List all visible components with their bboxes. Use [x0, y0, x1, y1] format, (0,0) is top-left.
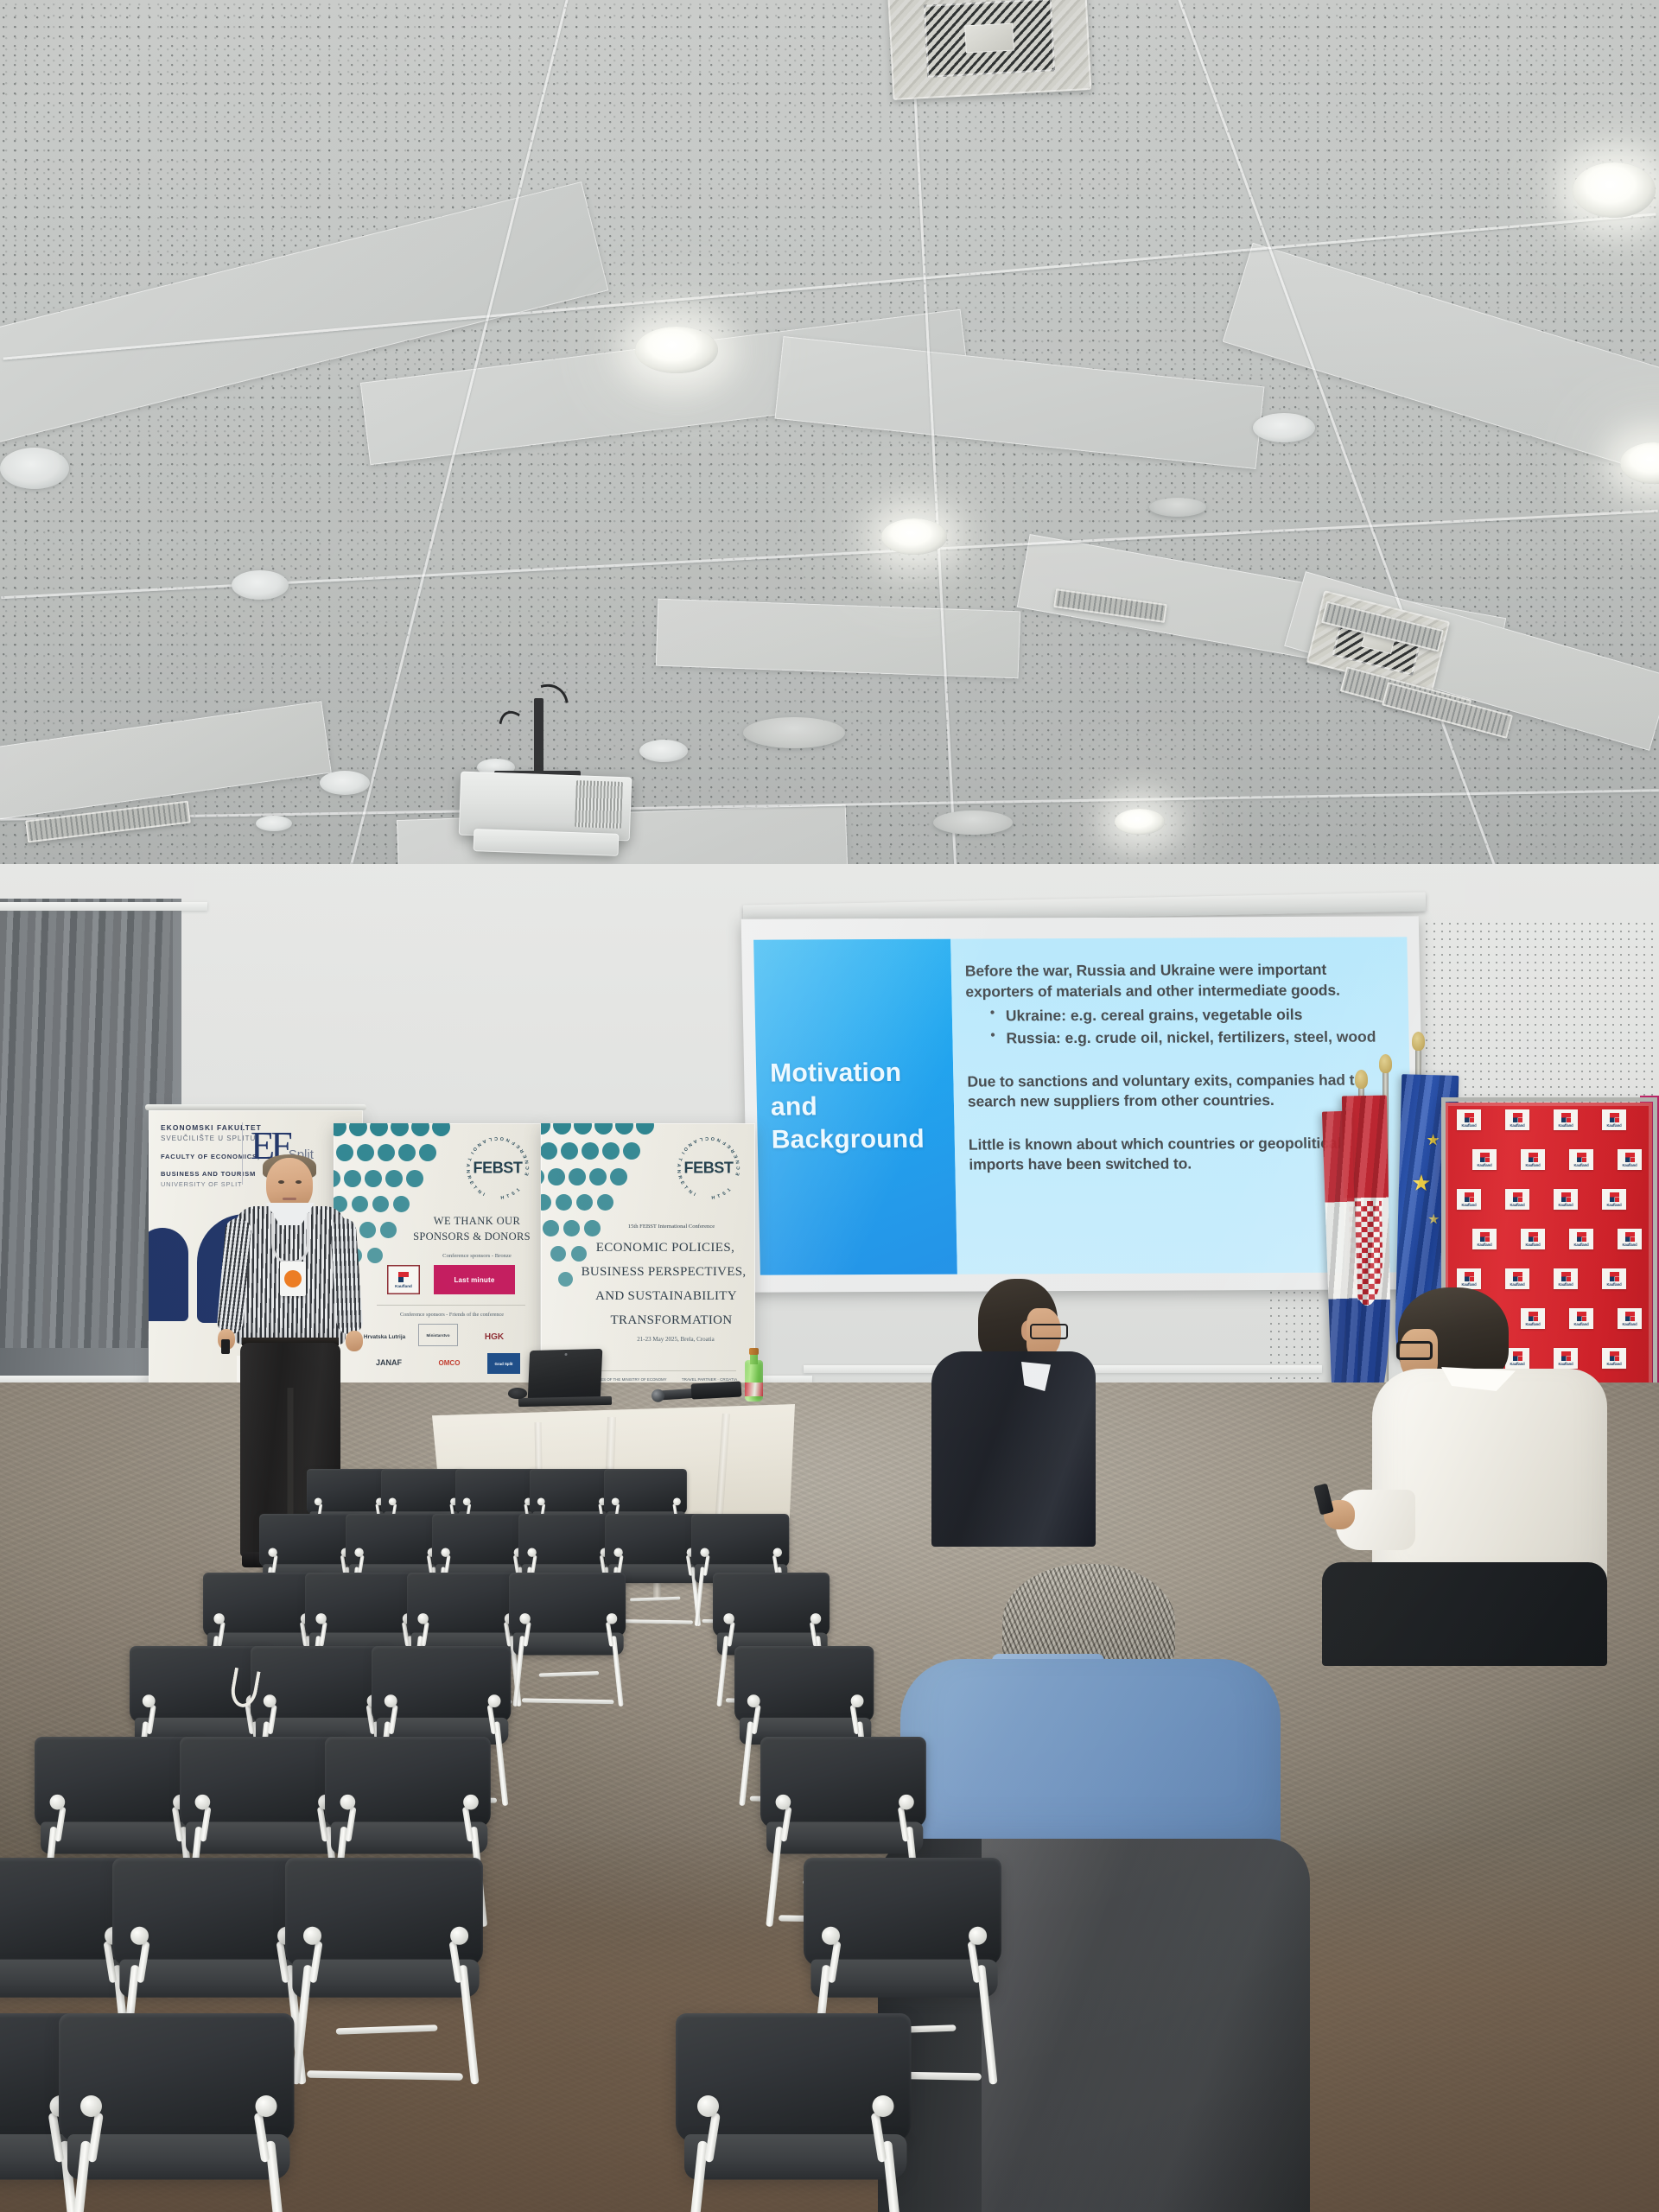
slide-bullet: Russia: e.g. crude oil, nickel, fertiliz… — [988, 1027, 1392, 1049]
decorative-dot — [623, 1142, 640, 1160]
conference-kicker: 15th FEBST International Conference — [593, 1224, 750, 1230]
decorative-dot — [378, 1144, 395, 1161]
seal-ring-character: I — [469, 1151, 474, 1154]
conference-title-line-4: TRANSFORMATION — [593, 1313, 750, 1328]
chair-back-knob — [537, 1497, 545, 1505]
bottle-neck — [750, 1354, 758, 1364]
kaufland-wordmark: Kaufland — [1606, 1203, 1621, 1207]
kaufland-wordmark: Kaufland — [1606, 1282, 1621, 1287]
sponsor-name: Last minute — [454, 1276, 494, 1284]
chair-back-knob — [613, 1548, 622, 1557]
kaufland-mark-icon — [1480, 1153, 1490, 1162]
chair-back-knob — [441, 1548, 449, 1557]
decorative-dot — [558, 1272, 573, 1287]
decorative-dot — [385, 1170, 403, 1187]
presenter-mouth — [283, 1198, 296, 1200]
ceiling-downlight — [0, 448, 69, 489]
ceiling-speaker — [933, 810, 1013, 835]
chair-back-knob — [303, 1927, 321, 1945]
chair-back-knob — [213, 1613, 224, 1624]
ceiling-downlight — [639, 740, 688, 762]
chair-back-knob — [822, 1927, 840, 1945]
seal-ring-character: O — [472, 1146, 478, 1152]
chair-back-behind-white-shirt — [1322, 1562, 1607, 1666]
chair-back-knob — [723, 1613, 734, 1624]
decorative-dot — [594, 1123, 613, 1135]
chair-back-knob — [851, 1694, 864, 1707]
decorative-dot — [349, 1123, 367, 1136]
decorative-dot — [563, 1220, 580, 1236]
chair-back-knob — [80, 2095, 102, 2117]
decorative-dot — [432, 1123, 450, 1136]
conference-title-line-1: ECONOMIC POLICIES, — [581, 1241, 750, 1255]
seal-ring-character: E — [727, 1143, 733, 1149]
chair-back-knob — [385, 1694, 397, 1707]
slide-bullet: Ukraine: e.g. cereal grains, vegetable o… — [988, 1004, 1392, 1027]
kaufland-logo-tile: Kaufland — [1457, 1268, 1481, 1289]
chair-seat — [119, 1960, 306, 1998]
sponsor-logo-kaufland: Kaufland — [387, 1265, 420, 1294]
seal-ring-character: 5 — [722, 1192, 728, 1198]
kaufland-logo-tile: Kaufland — [1569, 1229, 1593, 1249]
chair-seat — [186, 1822, 342, 1854]
seal-ring-character: N — [505, 1137, 511, 1143]
kaufland-mark-icon — [398, 1272, 409, 1282]
chair-back-knob — [527, 1548, 536, 1557]
seal-ring-character: E — [468, 1180, 474, 1185]
kaufland-mark-icon — [1513, 1113, 1522, 1122]
decorative-dot — [391, 1123, 409, 1136]
cable-bundle — [691, 1381, 742, 1399]
kaufland-wordmark: Kaufland — [1461, 1203, 1476, 1207]
seal-ring-character: L — [699, 1136, 702, 1142]
kaufland-wordmark: Kaufland — [1510, 1282, 1524, 1287]
water-bottle — [745, 1348, 763, 1402]
seal-ring-character: H — [500, 1195, 504, 1200]
seal-ring-character: I — [482, 1192, 486, 1198]
decorative-dot — [636, 1123, 654, 1135]
seal-ring-character: E — [735, 1173, 741, 1177]
seal-ring-character: T — [717, 1194, 721, 1200]
computer-mouse[interactable] — [508, 1388, 527, 1399]
slide-bullet-list: Ukraine: e.g. cereal grains, vegetable o… — [988, 1004, 1392, 1049]
sponsor-logo: Grad Split — [487, 1353, 520, 1374]
chair-back-knob — [389, 1497, 397, 1505]
kaufland-logo-tile: Kaufland — [1472, 1149, 1497, 1170]
eyeglasses — [1030, 1324, 1068, 1339]
decorative-dot — [365, 1170, 382, 1187]
febst-seal-word: FEBST — [683, 1160, 733, 1178]
decorative-dot — [556, 1194, 572, 1211]
seal-ring-character: C — [494, 1135, 498, 1141]
chair-back-knob — [673, 1497, 681, 1505]
chair-back-knob — [776, 1795, 791, 1810]
febst-seal: CONFERENCE 15TH INTERNATIONAL FEBST — [677, 1137, 740, 1199]
ceiling-downlight — [320, 771, 370, 795]
presenter-eyes — [266, 1180, 313, 1184]
presentation-clicker[interactable] — [221, 1339, 230, 1354]
seal-ring-character: E — [516, 1143, 522, 1149]
ceiling-panel — [656, 599, 1020, 679]
sponsor-logo-last-minute: Last minute — [434, 1265, 515, 1294]
decorative-dot — [406, 1170, 423, 1187]
sponsor-logo: Hrvatska Lutrija — [358, 1329, 411, 1344]
kaufland-mark-icon — [1513, 1192, 1522, 1202]
kaufland-logo-tile: Kaufland — [1457, 1189, 1481, 1210]
sponsors-heading-2: SPONSORS & DONORS — [406, 1230, 537, 1243]
section-divider — [377, 1305, 525, 1306]
wall-acoustic-panel — [1426, 923, 1657, 1113]
kaufland-mark-icon — [1577, 1232, 1586, 1242]
decorative-dot — [541, 1123, 550, 1135]
kaufland-wordmark: Kaufland — [1477, 1163, 1491, 1167]
ceiling-downlight — [1115, 809, 1165, 835]
seal-ring-character: 5 — [512, 1192, 517, 1198]
ceiling-downlight — [635, 327, 718, 373]
sponsor-logo: JANAF — [365, 1355, 413, 1370]
ceiling-downlight — [256, 816, 292, 831]
kaufland-wordmark: Kaufland — [1461, 1123, 1476, 1128]
kaufland-logo-tile: Kaufland — [1554, 1268, 1578, 1289]
seal-ring-character: C — [705, 1135, 709, 1141]
kaufland-logo-tile: Kaufland — [1554, 1109, 1578, 1130]
seal-ring-character: T — [506, 1194, 511, 1200]
ceiling-downlight — [1573, 162, 1656, 218]
kaufland-logo-tile: Kaufland — [1618, 1149, 1642, 1170]
presenter-right-hand — [346, 1331, 363, 1351]
decorative-dot — [541, 1168, 544, 1185]
decorative-dot — [610, 1168, 627, 1185]
seal-ring-character: N — [465, 1170, 470, 1173]
sponsor-name: Kaufland — [395, 1284, 412, 1288]
chair-back-knob — [810, 1613, 821, 1624]
seal-ring-character: R — [677, 1175, 683, 1179]
badge-dot-icon — [284, 1270, 302, 1287]
sponsors-tier-1-label: Conference sponsors - Bronze — [416, 1253, 537, 1259]
conference-room-photo: Motivation and Background Before the war… — [0, 0, 1659, 2212]
kaufland-logo-tile: Kaufland — [1505, 1189, 1529, 1210]
seal-ring-character: I — [680, 1151, 685, 1154]
decorative-dot — [372, 1196, 389, 1212]
ceiling — [0, 0, 1659, 976]
seal-ring-character: R — [730, 1148, 736, 1154]
seal-ring-character: N — [687, 1141, 693, 1147]
chair-back-knob — [417, 1613, 428, 1624]
seal-ring-character: C — [525, 1166, 531, 1170]
chair-back-knob — [747, 1694, 760, 1707]
chair-seat — [41, 1822, 197, 1854]
kaufland-wordmark: Kaufland — [1510, 1203, 1524, 1207]
decorative-dot — [550, 1246, 566, 1262]
kaufland-wordmark: Kaufland — [1477, 1243, 1491, 1247]
seal-ring-character: N — [524, 1160, 531, 1164]
kaufland-mark-icon — [1625, 1153, 1635, 1162]
kaufland-logo-tile: Kaufland — [1521, 1149, 1545, 1170]
chair-back-knob — [450, 1927, 468, 1945]
chair-back-knob — [873, 2095, 894, 2117]
decorative-dot — [543, 1220, 559, 1236]
seal-ring-character: A — [676, 1163, 682, 1167]
kaufland-mark-icon — [1513, 1272, 1522, 1281]
seal-ring-character: E — [679, 1180, 685, 1185]
chair-back-knob — [899, 1795, 914, 1810]
kaufland-mark-icon — [1610, 1113, 1619, 1122]
presentation-slide: Motivation and Background Before the war… — [753, 937, 1414, 1274]
chair-seat — [292, 1960, 479, 1998]
decorative-dot — [561, 1142, 578, 1160]
seal-ring-character: 1 — [727, 1187, 732, 1193]
chair-back-knob — [463, 1795, 479, 1810]
projection-screen: Motivation and Background Before the war… — [741, 916, 1427, 1292]
decorative-dot — [589, 1168, 607, 1185]
decorative-dot — [548, 1168, 565, 1185]
kaufland-mark-icon — [1625, 1232, 1635, 1242]
chair-back-knob — [50, 1795, 66, 1810]
sponsor-logo: Ministarstvo — [418, 1324, 458, 1346]
chair-back-knob — [773, 1548, 782, 1557]
bottle-label — [745, 1382, 763, 1396]
chair-back-knob — [607, 1613, 617, 1624]
seal-ring-character: N — [476, 1189, 482, 1195]
kaufland-wordmark: Kaufland — [1510, 1123, 1524, 1128]
kaufland-wordmark: Kaufland — [1622, 1163, 1637, 1167]
seal-ring-character: H — [711, 1195, 715, 1200]
seal-ring-character: A — [481, 1138, 486, 1144]
decorative-dot — [615, 1123, 633, 1135]
seal-ring-character: E — [524, 1173, 531, 1177]
kaufland-mark-icon — [1465, 1272, 1474, 1281]
audience-blue-shirt — [900, 1659, 1281, 1866]
kaufland-logo-tile: Kaufland — [1505, 1109, 1529, 1130]
decorative-dot — [367, 1248, 383, 1263]
kaufland-logo-tile: Kaufland — [1569, 1149, 1593, 1170]
kaufland-wordmark: Kaufland — [1573, 1243, 1588, 1247]
kaufland-logo-tile: Kaufland — [1602, 1189, 1626, 1210]
presenter-lanyard — [271, 1213, 309, 1263]
sponsor-logo: OMCO — [423, 1355, 475, 1370]
seal-ring-character: F — [512, 1140, 517, 1146]
audience-member-suit — [925, 1279, 1123, 1547]
kaufland-logo-tile: Kaufland — [1554, 1189, 1578, 1210]
seal-ring-character: T — [466, 1157, 472, 1161]
kaufland-logo-tile: Kaufland — [1521, 1229, 1545, 1249]
kaufland-wordmark: Kaufland — [1558, 1203, 1573, 1207]
seal-ring-character: T — [677, 1157, 683, 1161]
slide-spacer — [967, 1047, 1393, 1071]
sponsors-heading-1: WE THANK OUR — [416, 1215, 537, 1228]
conference-title-line-2: BUSINESS PERSPECTIVES, — [575, 1265, 752, 1280]
slide-title: Motivation and Background — [770, 1057, 941, 1157]
chair-back-knob — [315, 1497, 322, 1505]
kaufland-logo-tile: Kaufland — [1472, 1229, 1497, 1249]
seal-ring-character: N — [676, 1170, 681, 1173]
kaufland-mark-icon — [1561, 1272, 1571, 1281]
ceiling-downlight — [1253, 413, 1315, 442]
seal-ring-character: 1 — [516, 1187, 521, 1193]
conference-title-line-3: AND SUSTAINABILITY — [581, 1289, 752, 1304]
kaufland-wordmark: Kaufland — [1606, 1123, 1621, 1128]
seal-ring-character: L — [488, 1136, 492, 1142]
kaufland-wordmark: Kaufland — [1558, 1123, 1573, 1128]
decorative-dot — [569, 1168, 586, 1185]
decorative-dot — [574, 1123, 592, 1135]
seal-ring-character: N — [716, 1137, 721, 1143]
chair-seat — [331, 1822, 487, 1854]
kaufland-mark-icon — [1480, 1232, 1490, 1242]
seal-ring-character: N — [476, 1141, 482, 1147]
febst-seal: CONFERENCE 15TH INTERNATIONAL FEBST — [467, 1137, 529, 1199]
kaufland-wordmark: Kaufland — [1525, 1163, 1540, 1167]
ceiling-downlight — [881, 518, 947, 555]
air-diffuser — [887, 0, 1092, 100]
kaufland-mark-icon — [1610, 1192, 1619, 1202]
seal-ring-character: T — [472, 1185, 478, 1191]
kaufland-logo-tile: Kaufland — [1618, 1229, 1642, 1249]
chair-back-knob — [340, 1795, 356, 1810]
chair-back-knob — [315, 1613, 326, 1624]
decorative-dot — [398, 1144, 416, 1161]
banner-graphic-shape — [149, 1228, 188, 1321]
seal-ring-character: A — [692, 1138, 697, 1144]
projector-vent — [575, 780, 623, 829]
kaufland-logo-tile: Kaufland — [1457, 1109, 1481, 1130]
kaufland-mark-icon — [1561, 1113, 1571, 1122]
decorative-dot — [553, 1123, 571, 1135]
chair-back-knob — [268, 1548, 276, 1557]
window-curtain — [0, 899, 173, 1348]
chair-back-knob — [700, 1548, 709, 1557]
kaufland-logo-tile: Kaufland — [1602, 1268, 1626, 1289]
febst-seal-word: FEBST — [473, 1160, 522, 1178]
audience-suit-jacket — [931, 1351, 1096, 1547]
chair-seat — [810, 1960, 997, 1998]
kaufland-wordmark: Kaufland — [1461, 1282, 1476, 1287]
kaufland-mark-icon — [1561, 1192, 1571, 1202]
banner-top-rail — [145, 1104, 366, 1110]
decorative-dot — [541, 1194, 551, 1211]
chair-back-knob — [143, 1694, 156, 1707]
decorative-dot — [602, 1142, 620, 1160]
bottle-cap — [749, 1348, 759, 1355]
kaufland-mark-icon — [1529, 1232, 1538, 1242]
chair-back-knob — [488, 1694, 501, 1707]
decorative-dot — [411, 1123, 429, 1136]
decorative-dot — [380, 1222, 397, 1238]
eyeglasses — [1396, 1341, 1433, 1360]
kaufland-mark-icon — [1465, 1113, 1474, 1122]
chair-back-knob — [519, 1613, 530, 1624]
kaufland-logo-tile: Kaufland — [1602, 1109, 1626, 1130]
decorative-dot — [370, 1123, 388, 1136]
chair-back-knob — [463, 1497, 471, 1505]
decorative-dot — [597, 1194, 613, 1211]
slide-title-panel: Motivation and Background — [753, 939, 957, 1275]
seal-ring-character: O — [499, 1135, 504, 1141]
presenter-conference-badge — [280, 1262, 306, 1296]
chair-back-knob — [195, 1795, 211, 1810]
sponsors-tier-2-label: Conference sponsors - Friends of the con… — [378, 1312, 525, 1318]
sponsor-logo: HGK — [468, 1329, 520, 1344]
seal-ring-character: N — [687, 1189, 693, 1195]
slide-paragraph-2: Due to sanctions and voluntary exits, co… — [967, 1070, 1393, 1112]
ceiling-speaker — [1149, 498, 1206, 517]
kaufland-mark-icon — [1610, 1272, 1619, 1281]
chair-back-knob — [969, 1927, 987, 1945]
kaufland-mark-icon — [1577, 1153, 1586, 1162]
chair-back-knob — [612, 1497, 620, 1505]
chair-seat — [684, 2134, 907, 2180]
seal-ring-character: O — [683, 1146, 689, 1152]
kaufland-mark-icon — [1529, 1153, 1538, 1162]
decorative-dot — [576, 1194, 593, 1211]
seal-ring-character: O — [710, 1135, 715, 1141]
kaufland-wordmark: Kaufland — [1622, 1243, 1637, 1247]
decorative-dot — [393, 1196, 410, 1212]
chair-seat — [67, 2134, 290, 2180]
seal-ring-character: E — [734, 1154, 740, 1158]
decorative-dot — [419, 1144, 436, 1161]
chair-back-knob — [354, 1548, 363, 1557]
audience-member-white-shirt — [1331, 1287, 1659, 1616]
seal-ring-character: F — [722, 1140, 728, 1146]
chair-back-knob — [264, 1694, 276, 1707]
kaufland-logo-tile: Kaufland — [1505, 1268, 1529, 1289]
seal-ring-character: T — [683, 1185, 689, 1191]
decorative-dot — [582, 1142, 599, 1160]
seal-ring-character: E — [523, 1154, 529, 1158]
seal-ring-character: A — [465, 1163, 471, 1167]
chair-back-knob — [256, 2095, 277, 2117]
chair-back-knob — [130, 1927, 149, 1945]
kaufland-wordmark: Kaufland — [1525, 1243, 1540, 1247]
ceiling-downlight — [232, 570, 289, 600]
seal-ring-character: N — [735, 1160, 741, 1164]
wall-cornice — [0, 902, 207, 911]
seal-ring-character: C — [736, 1166, 741, 1170]
seal-ring-character: I — [693, 1192, 696, 1198]
kaufland-wordmark: Kaufland — [1573, 1163, 1588, 1167]
laptop-screen[interactable] — [528, 1349, 603, 1401]
ceiling-speaker — [743, 717, 845, 748]
slide-paragraph-1: Before the war, Russia and Ukraine were … — [965, 959, 1391, 1001]
decorative-dot — [541, 1142, 557, 1160]
decorative-dot — [334, 1123, 346, 1136]
chair-seat — [766, 1822, 923, 1854]
conference-date-place: 21-23 May 2025, Brela, Croatia — [605, 1336, 747, 1343]
kaufland-mark-icon — [1465, 1192, 1474, 1202]
kaufland-wordmark: Kaufland — [1558, 1282, 1573, 1287]
seal-ring-character: R — [466, 1175, 472, 1179]
seal-ring-character: R — [519, 1148, 525, 1154]
chair-back-knob — [697, 2095, 719, 2117]
